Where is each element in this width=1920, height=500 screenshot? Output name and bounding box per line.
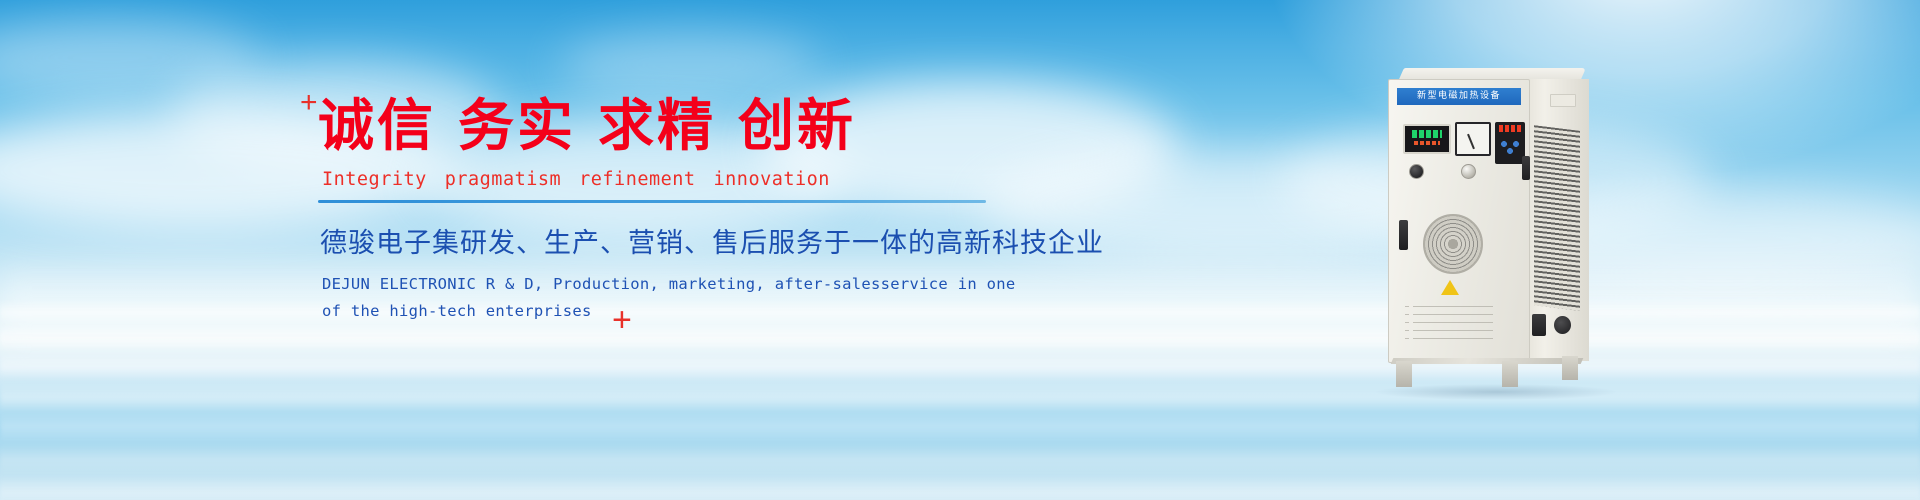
headline-word-1: 诚信 xyxy=(318,94,436,159)
machine-cable-gland xyxy=(1554,316,1571,334)
sea-streaks xyxy=(0,300,1920,500)
machine-foot xyxy=(1562,356,1578,380)
port-icon xyxy=(1399,220,1408,250)
tagline-en: DEJUN ELECTRONIC R & D, Production, mark… xyxy=(322,271,1018,325)
machine-front-panel: 新型电磁加热设备 xyxy=(1388,79,1530,363)
fan-grille-icon xyxy=(1423,214,1483,274)
selector-knob-icon xyxy=(1409,164,1424,179)
product-machine-image: 新型电磁加热设备 xyxy=(1382,68,1614,373)
headline-word-2: 务实 xyxy=(458,94,576,159)
machine-name-plate: 新型电磁加热设备 xyxy=(1397,88,1521,105)
headline-en: Integritypragmatismrefinementinnovation xyxy=(322,169,1018,190)
headline-word-3: 求精 xyxy=(598,94,716,159)
digital-display-icon xyxy=(1403,124,1451,154)
divider-rule xyxy=(318,200,986,203)
headline-word-4: 创新 xyxy=(738,94,856,159)
cloud-decor xyxy=(560,30,820,100)
headline-en-word-2: pragmatism xyxy=(445,169,561,190)
headline-cn: 诚信务实求精创新 xyxy=(318,96,1018,159)
spec-text-lines xyxy=(1413,306,1493,342)
headline-en-word-1: Integrity xyxy=(322,169,427,190)
machine-foot xyxy=(1502,361,1518,387)
headline-en-word-4: innovation xyxy=(714,169,830,190)
promo-banner: + + 诚信务实求精创新 Integritypragmatismrefineme… xyxy=(0,0,1920,500)
machine-base xyxy=(1391,358,1584,364)
warning-triangle-icon xyxy=(1441,280,1459,295)
tagline-en-line-1: DEJUN ELECTRONIC R & D, Production, mark… xyxy=(322,271,1018,298)
headline-en-word-3: refinement xyxy=(579,169,695,190)
machine-outlet xyxy=(1532,314,1546,336)
keypad-panel-icon xyxy=(1495,122,1525,164)
machine-vent-slots xyxy=(1534,125,1580,311)
tagline-cn: 德骏电子集研发、生产、营销、售后服务于一体的高新科技企业 xyxy=(320,221,1018,260)
machine-shadow xyxy=(1376,384,1616,400)
analog-meter-icon xyxy=(1455,122,1491,156)
plus-decor-top-left: + xyxy=(300,88,318,118)
copy-block: 诚信务实求精创新 Integritypragmatismrefinementin… xyxy=(318,96,1018,325)
machine-foot xyxy=(1396,361,1412,387)
machine-handle xyxy=(1522,156,1530,180)
dial-knob-icon xyxy=(1461,164,1476,179)
machine-sticker xyxy=(1550,94,1576,107)
tagline-en-line-2: of the high-tech enterprises xyxy=(322,298,1018,325)
